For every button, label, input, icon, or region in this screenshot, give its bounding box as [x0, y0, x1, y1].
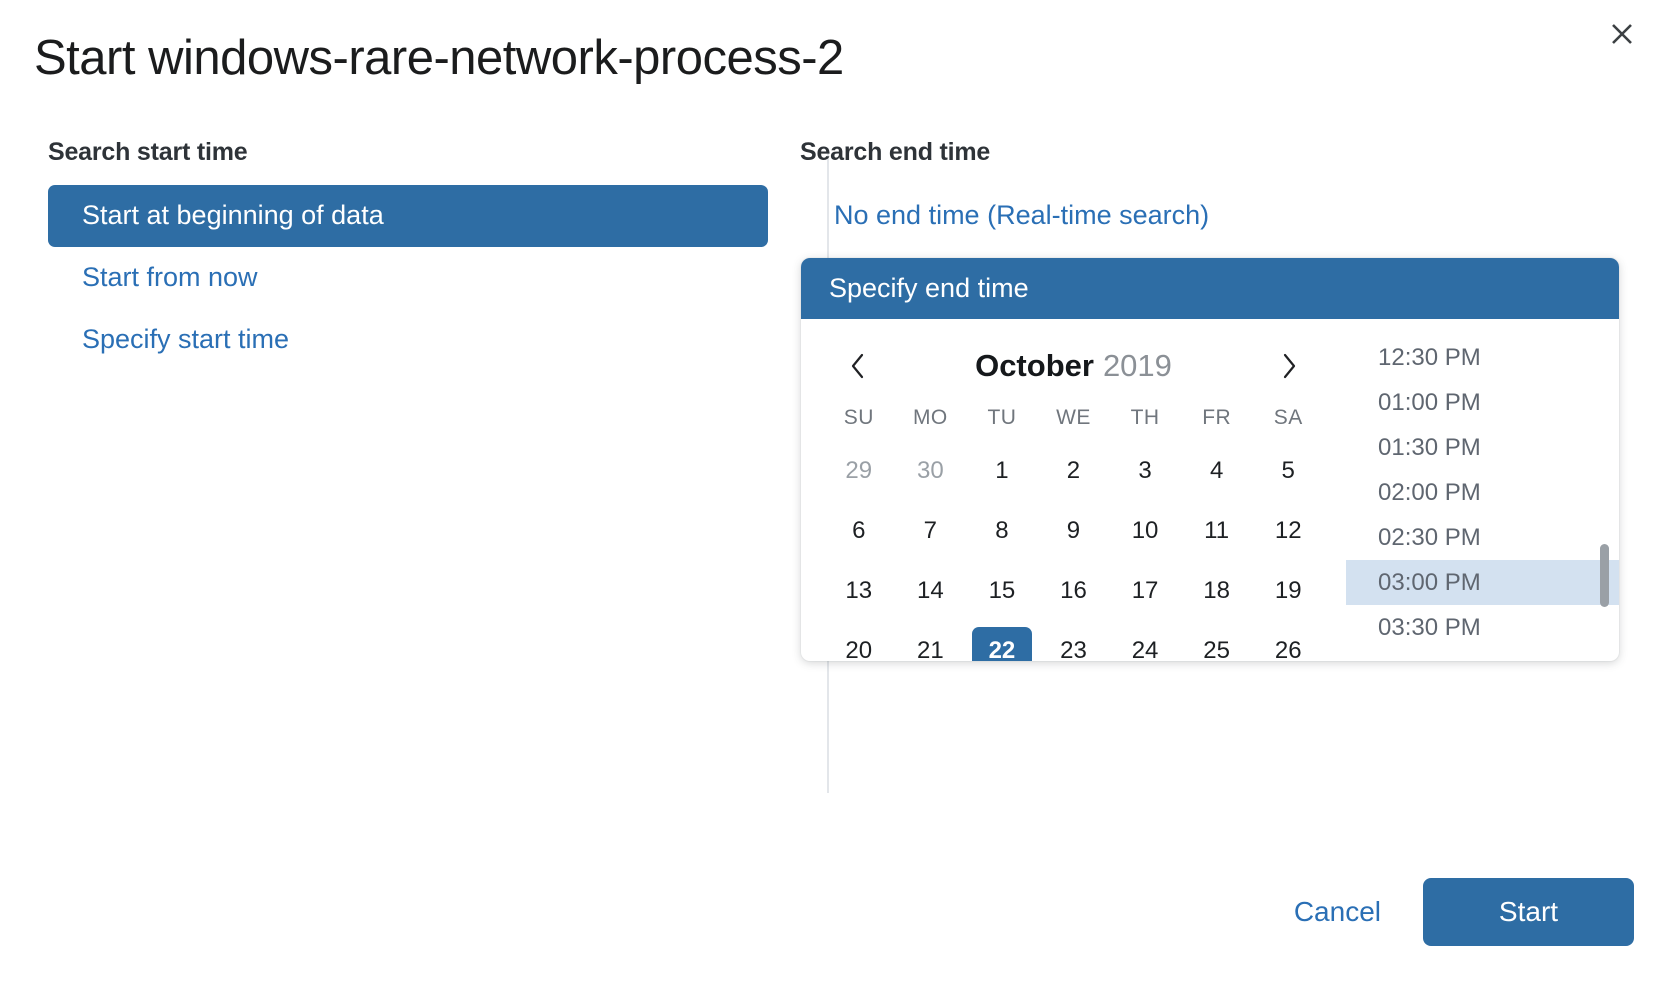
calendar-month[interactable]: October	[975, 348, 1094, 383]
calendar-day[interactable]: 16	[1038, 561, 1110, 621]
calendar-day[interactable]: 6	[823, 501, 895, 561]
time-list-scrollbar[interactable]	[1600, 335, 1609, 661]
time-option[interactable]: 01:30 PM	[1346, 425, 1619, 470]
time-option[interactable]: 02:00 PM	[1346, 470, 1619, 515]
calendar-day-label: 20	[829, 627, 889, 661]
calendar-weekday: TU	[966, 395, 1038, 441]
calendar-day[interactable]: 5	[1252, 441, 1324, 501]
start-option-beginning-of-data[interactable]: Start at beginning of data	[48, 185, 768, 247]
calendar-weekday: MO	[895, 395, 967, 441]
dialog-footer: Cancel Start	[1264, 878, 1634, 946]
search-start-time-column: Search start time Start at beginning of …	[48, 138, 816, 370]
calendar-day-label: 25	[1187, 627, 1247, 661]
start-search-dialog: Start windows-rare-network-process-2 Sea…	[0, 0, 1666, 994]
page-title: Start windows-rare-network-process-2	[34, 30, 844, 86]
calendar-day-label: 12	[1258, 507, 1318, 555]
calendar-day[interactable]: 23	[1038, 621, 1110, 661]
calendar-day-label: 15	[972, 567, 1032, 615]
time-option[interactable]: 01:00 PM	[1346, 380, 1619, 425]
calendar-day[interactable]: 14	[895, 561, 967, 621]
calendar-day-label: 16	[1043, 567, 1103, 615]
start-option-from-now[interactable]: Start from now	[48, 247, 768, 309]
calendar-day[interactable]: 19	[1252, 561, 1324, 621]
calendar-day[interactable]: 29	[823, 441, 895, 501]
calendar-day[interactable]: 12	[1252, 501, 1324, 561]
close-icon[interactable]	[1600, 12, 1644, 56]
calendar-day-label: 4	[1187, 447, 1247, 495]
calendar-weekday: SU	[823, 395, 895, 441]
calendar-day-label: 22	[972, 627, 1032, 661]
calendar-weekday: SA	[1252, 395, 1324, 441]
time-list[interactable]: 12:30 PM01:00 PM01:30 PM02:00 PM02:30 PM…	[1346, 319, 1619, 661]
calendar-day[interactable]: 10	[1109, 501, 1181, 561]
calendar-weekday: TH	[1109, 395, 1181, 441]
calendar-day-label: 29	[829, 447, 889, 495]
search-start-time-label: Search start time	[48, 138, 816, 167]
calendar-day-label: 21	[900, 627, 960, 661]
calendar-day-label: 14	[900, 567, 960, 615]
calendar-day-label: 2	[1043, 447, 1103, 495]
calendar-day[interactable]: 25	[1181, 621, 1253, 661]
specify-end-time-panel: Specify end time October2019	[801, 258, 1619, 661]
end-option-no-end-time[interactable]: No end time (Real-time search)	[800, 185, 1620, 247]
calendar-day-label: 24	[1115, 627, 1175, 661]
calendar-day-label: 19	[1258, 567, 1318, 615]
time-option[interactable]: 04:00 PM	[1346, 650, 1619, 661]
calendar-day[interactable]: 13	[823, 561, 895, 621]
calendar-day[interactable]: 26	[1252, 621, 1324, 661]
calendar-day-label: 6	[829, 507, 889, 555]
calendar-day-label: 30	[900, 447, 960, 495]
calendar-day[interactable]: 2	[1038, 441, 1110, 501]
calendar-day-label: 11	[1187, 507, 1247, 555]
calendar-year[interactable]: 2019	[1103, 348, 1172, 383]
calendar-day-label: 13	[829, 567, 889, 615]
calendar-day[interactable]: 30	[895, 441, 967, 501]
calendar-day[interactable]: 15	[966, 561, 1038, 621]
calendar-day[interactable]: 20	[823, 621, 895, 661]
calendar-day[interactable]: 4	[1181, 441, 1253, 501]
calendar-day-label: 7	[900, 507, 960, 555]
end-option-specify-end-time[interactable]: Specify end time	[801, 258, 1619, 319]
calendar-day-label: 17	[1115, 567, 1175, 615]
chevron-left-icon[interactable]	[841, 349, 875, 383]
calendar-day-label: 1	[972, 447, 1032, 495]
start-option-specify-start-time[interactable]: Specify start time	[48, 309, 768, 371]
calendar-day-label: 18	[1187, 567, 1247, 615]
calendar-day-label: 5	[1258, 447, 1318, 495]
calendar-day[interactable]: 7	[895, 501, 967, 561]
calendar-day-label: 3	[1115, 447, 1175, 495]
cancel-button[interactable]: Cancel	[1264, 878, 1411, 946]
time-option[interactable]: 02:30 PM	[1346, 515, 1619, 560]
calendar-day-label: 23	[1043, 627, 1103, 661]
time-option[interactable]: 03:30 PM	[1346, 605, 1619, 650]
calendar-day[interactable]: 17	[1109, 561, 1181, 621]
calendar: October2019 SUMOTUWETHFRSA29301234567891…	[801, 319, 1346, 661]
search-end-time-column: Search end time No end time (Real-time s…	[800, 138, 1620, 247]
calendar-nav: October2019	[823, 337, 1324, 395]
calendar-day[interactable]: 18	[1181, 561, 1253, 621]
search-end-time-label: Search end time	[800, 138, 1620, 167]
calendar-day-selected[interactable]: 22	[966, 621, 1038, 661]
calendar-day[interactable]: 8	[966, 501, 1038, 561]
time-option-selected[interactable]: 03:00 PM	[1346, 560, 1619, 605]
start-button[interactable]: Start	[1423, 878, 1634, 946]
calendar-month-year: October2019	[875, 348, 1272, 384]
time-list-scroll-thumb[interactable]	[1600, 544, 1609, 607]
time-option[interactable]: 12:30 PM	[1346, 335, 1619, 380]
calendar-weekday: WE	[1038, 395, 1110, 441]
calendar-day-label: 26	[1258, 627, 1318, 661]
calendar-day-label: 8	[972, 507, 1032, 555]
datetime-picker: October2019 SUMOTUWETHFRSA29301234567891…	[801, 319, 1619, 661]
calendar-weekday: FR	[1181, 395, 1253, 441]
calendar-day[interactable]: 24	[1109, 621, 1181, 661]
calendar-day[interactable]: 21	[895, 621, 967, 661]
calendar-day[interactable]: 11	[1181, 501, 1253, 561]
calendar-day[interactable]: 9	[1038, 501, 1110, 561]
calendar-day-label: 9	[1043, 507, 1103, 555]
calendar-day[interactable]: 1	[966, 441, 1038, 501]
calendar-day[interactable]: 3	[1109, 441, 1181, 501]
chevron-right-icon[interactable]	[1272, 349, 1306, 383]
calendar-day-label: 10	[1115, 507, 1175, 555]
calendar-grid: SUMOTUWETHFRSA29301234567891011121314151…	[823, 395, 1324, 661]
